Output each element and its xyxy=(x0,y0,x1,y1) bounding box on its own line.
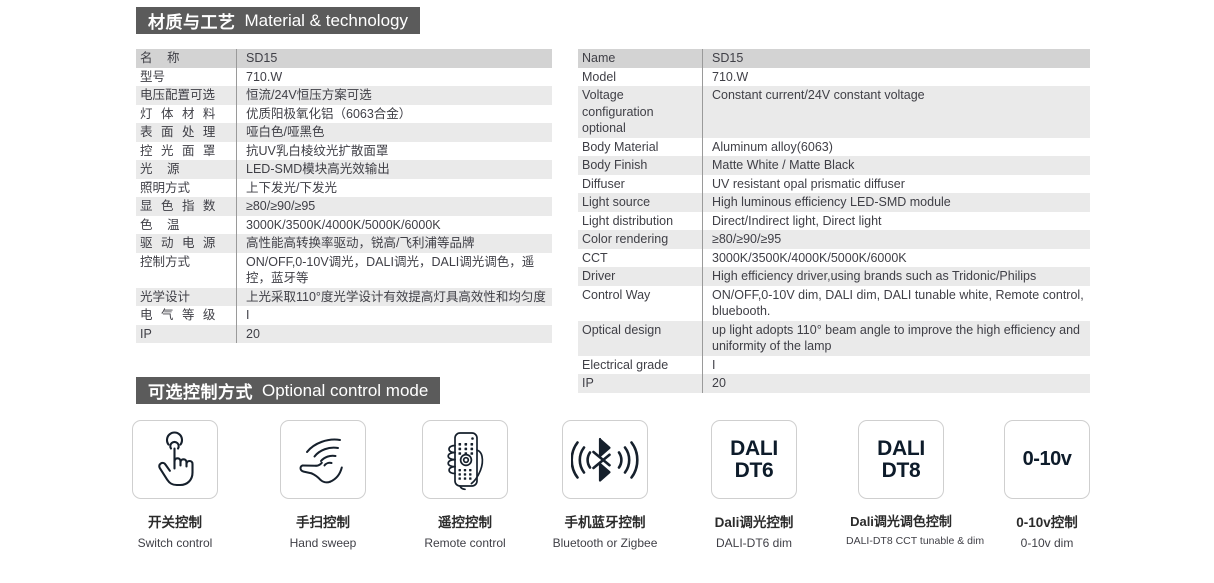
control-mode-label-cn: Dali调光调色控制 xyxy=(846,511,956,530)
table-row: Model 710.W xyxy=(578,68,1090,87)
spec-value: High luminous efficiency LED-SMD module xyxy=(702,193,1090,212)
dali-dt6-icon: DALI DT6 xyxy=(730,438,778,481)
spec-key: 表 面 处 理 xyxy=(136,123,236,142)
table-row: 控制方式 ON/OFF,0-10V调光，DALI调光，DALI调光调色，遥控，蓝… xyxy=(136,253,552,288)
dali-dt8-icon: DALI DT8 xyxy=(877,438,925,481)
control-mode-label-cn: Dali调光控制 xyxy=(699,511,809,531)
dali-dt8-line1: DALI xyxy=(877,437,925,460)
spec-value: Direct/Indirect light, Direct light xyxy=(702,212,1090,231)
spec-value: ≥80/≥90/≥95 xyxy=(702,230,1090,249)
dali-dt8-line2: DT8 xyxy=(877,460,925,481)
spec-key: IP xyxy=(136,325,236,344)
spec-value: 抗UV乳白棱纹光扩散面罩 xyxy=(236,142,552,161)
spec-value: up light adopts 110° beam angle to impro… xyxy=(702,321,1090,356)
spec-key: Name xyxy=(578,49,702,68)
control-mode-item-bluetooth[interactable]: 手机蓝牙控制 Bluetooth or Zigbee xyxy=(550,420,660,550)
spec-value: Constant current/24V constant voltage xyxy=(702,86,1090,138)
spec-key: Control Way xyxy=(578,286,702,321)
spec-value: 710.W xyxy=(702,68,1090,87)
section-header-control-mode: 可选控制方式 Optional control mode xyxy=(136,377,440,404)
table-row: Light source High luminous efficiency LE… xyxy=(578,193,1090,212)
control-mode-label-en: DALI-DT6 dim xyxy=(699,536,809,550)
spec-value: I xyxy=(236,306,552,325)
spec-key: 光 源 xyxy=(136,160,236,179)
table-row: 照明方式 上下发光/下发光 xyxy=(136,179,552,198)
table-row: 控 光 面 罩 抗UV乳白棱纹光扩散面罩 xyxy=(136,142,552,161)
spec-value: 3000K/3500K/4000K/5000K/6000K xyxy=(236,216,552,235)
hand-sweep-wave-icon xyxy=(294,432,352,488)
touch-hand-icon-box[interactable] xyxy=(132,420,218,499)
spec-value: 优质阳极氧化铝（6063合金） xyxy=(236,105,552,124)
spec-key: Driver xyxy=(578,267,702,286)
control-mode-label-en: Bluetooth or Zigbee xyxy=(550,536,660,550)
table-row: 光学设计 上光采取110°度光学设计有效提高灯具高效性和均匀度 xyxy=(136,288,552,307)
spec-value: 20 xyxy=(236,325,552,344)
section-header-control-en: Optional control mode xyxy=(262,381,428,401)
spec-value: 20 xyxy=(702,374,1090,393)
table-row: 色 温 3000K/3500K/4000K/5000K/6000K xyxy=(136,216,552,235)
spec-value: 3000K/3500K/4000K/5000K/6000K xyxy=(702,249,1090,268)
spec-value: ≥80/≥90/≥95 xyxy=(236,197,552,216)
spec-key: Electrical grade xyxy=(578,356,702,375)
spec-value: I xyxy=(702,356,1090,375)
table-row: Driver High efficiency driver,using bran… xyxy=(578,267,1090,286)
table-row: IP 20 xyxy=(578,374,1090,393)
control-mode-label-en: Switch control xyxy=(120,536,230,550)
spec-key: 控 光 面 罩 xyxy=(136,142,236,161)
spec-key: Light source xyxy=(578,193,702,212)
table-row: 驱 动 电 源 高性能高转换率驱动，锐高/飞利浦等品牌 xyxy=(136,234,552,253)
spec-value: 恒流/24V恒压方案可选 xyxy=(236,86,552,105)
spec-key: IP xyxy=(578,374,702,393)
control-mode-item-remote[interactable]: 遥控控制 Remote control xyxy=(410,420,520,550)
spec-value: Matte White / Matte Black xyxy=(702,156,1090,175)
spec-key: Optical design xyxy=(578,321,702,356)
control-mode-label-en: 0-10v dim xyxy=(992,536,1102,550)
spec-key: 电 气 等 级 xyxy=(136,306,236,325)
table-row: Name SD15 xyxy=(578,49,1090,68)
table-row: 灯 体 材 料 优质阳极氧化铝（6063合金） xyxy=(136,105,552,124)
control-mode-label-cn: 手扫控制 xyxy=(268,511,378,531)
control-mode-label-en: DALI-DT8 CCT tunable & dim xyxy=(846,535,956,547)
spec-key: CCT xyxy=(578,249,702,268)
table-row: Body Finish Matte White / Matte Black xyxy=(578,156,1090,175)
spec-value: ON/OFF,0-10V dim, DALI dim, DALI tunable… xyxy=(702,286,1090,321)
section-header-material: 材质与工艺 Material & technology xyxy=(136,7,420,34)
control-mode-list: 开关控制 Switch control 手扫控制 xyxy=(0,420,1214,580)
spec-value: LED-SMD模块高光效输出 xyxy=(236,160,552,179)
table-row: 电压配置可选 恒流/24V恒压方案可选 xyxy=(136,86,552,105)
spec-value: 710.W xyxy=(236,68,552,87)
control-mode-label-cn: 0-10v控制 xyxy=(992,511,1102,531)
zero-to-ten-volt-icon-box[interactable]: 0-10v xyxy=(1004,420,1090,499)
control-mode-item-switch[interactable]: 开关控制 Switch control xyxy=(120,420,230,550)
spec-value: 哑白色/哑黑色 xyxy=(236,123,552,142)
table-row: 光 源 LED-SMD模块高光效输出 xyxy=(136,160,552,179)
spec-value: 上光采取110°度光学设计有效提高灯具高效性和均匀度 xyxy=(236,288,552,307)
table-row: Electrical grade I xyxy=(578,356,1090,375)
spec-key: Model xyxy=(578,68,702,87)
spec-table-english: Name SD15 Model 710.W Voltage configurat… xyxy=(578,49,1090,393)
spec-key: 照明方式 xyxy=(136,179,236,198)
spec-key: 电压配置可选 xyxy=(136,86,236,105)
spec-value: High efficiency driver,using brands such… xyxy=(702,267,1090,286)
spec-key: 显 色 指 数 xyxy=(136,197,236,216)
zero-to-ten-volt-icon: 0-10v xyxy=(1023,448,1072,471)
table-row: Optical design up light adopts 110° beam… xyxy=(578,321,1090,356)
control-mode-label-cn: 手机蓝牙控制 xyxy=(550,511,660,531)
table-row: 名 称 SD15 xyxy=(136,49,552,68)
table-row: 显 色 指 数 ≥80/≥90/≥95 xyxy=(136,197,552,216)
spec-table-chinese: 名 称 SD15 型号 710.W 电压配置可选 恒流/24V恒压方案可选 灯 … xyxy=(136,49,552,343)
section-header-control-cn: 可选控制方式 xyxy=(148,378,253,403)
spec-key: 名 称 xyxy=(136,49,236,68)
spec-value: Aluminum alloy(6063) xyxy=(702,138,1090,157)
spec-value: UV resistant opal prismatic diffuser xyxy=(702,175,1090,194)
spec-key: 驱 动 电 源 xyxy=(136,234,236,253)
spec-key: 型号 xyxy=(136,68,236,87)
spec-key: Body Material xyxy=(578,138,702,157)
table-row: 型号 710.W xyxy=(136,68,552,87)
control-mode-label-cn: 开关控制 xyxy=(120,511,230,531)
table-row: 表 面 处 理 哑白色/哑黑色 xyxy=(136,123,552,142)
spec-key: Light distribution xyxy=(578,212,702,231)
table-row: Body Material Aluminum alloy(6063) xyxy=(578,138,1090,157)
spec-value: SD15 xyxy=(236,49,552,68)
spec-value: SD15 xyxy=(702,49,1090,68)
spec-key: 色 温 xyxy=(136,216,236,235)
control-mode-label-cn: 遥控控制 xyxy=(410,511,520,531)
control-mode-label-en: Remote control xyxy=(410,536,520,550)
spec-key: Voltage configuration optional xyxy=(578,86,702,138)
spec-value: 高性能高转换率驱动，锐高/飞利浦等品牌 xyxy=(236,234,552,253)
table-row: Voltage configuration optional Constant … xyxy=(578,86,1090,138)
spec-key: Body Finish xyxy=(578,156,702,175)
section-header-material-en: Material & technology xyxy=(245,11,408,31)
section-header-material-cn: 材质与工艺 xyxy=(148,8,236,33)
spec-key: 灯 体 材 料 xyxy=(136,105,236,124)
spec-key: Diffuser xyxy=(578,175,702,194)
spec-key: 光学设计 xyxy=(136,288,236,307)
table-row: Diffuser UV resistant opal prismatic dif… xyxy=(578,175,1090,194)
spec-value: ON/OFF,0-10V调光，DALI调光，DALI调光调色，遥控，蓝牙等 xyxy=(236,253,552,288)
dali-dt6-icon-box[interactable]: DALI DT6 xyxy=(711,420,797,499)
control-mode-item-dali-dt6[interactable]: DALI DT6 Dali调光控制 DALI-DT6 dim xyxy=(699,420,809,550)
spec-value: 上下发光/下发光 xyxy=(236,179,552,198)
table-row: Light distribution Direct/Indirect light… xyxy=(578,212,1090,231)
bluetooth-signal-icon-box[interactable] xyxy=(562,420,648,499)
table-row: IP 20 xyxy=(136,325,552,344)
table-row: CCT 3000K/3500K/4000K/5000K/6000K xyxy=(578,249,1090,268)
control-mode-item-hand-sweep[interactable]: 手扫控制 Hand sweep xyxy=(268,420,378,550)
spec-key: 控制方式 xyxy=(136,253,236,288)
dali-dt6-line1: DALI xyxy=(730,437,778,460)
hand-sweep-wave-icon-box[interactable] xyxy=(280,420,366,499)
dali-dt8-icon-box[interactable]: DALI DT8 xyxy=(858,420,944,499)
spec-key: Color rendering xyxy=(578,230,702,249)
product-spec-page: 材质与工艺 Material & technology 名 称 SD15 型号 … xyxy=(0,0,1214,583)
touch-hand-icon xyxy=(147,431,203,489)
table-row: Control Way ON/OFF,0-10V dim, DALI dim, … xyxy=(578,286,1090,321)
remote-control-icon-box[interactable] xyxy=(422,420,508,499)
bluetooth-signal-icon xyxy=(571,435,639,485)
remote-control-icon xyxy=(436,429,494,491)
control-mode-item-0-10v[interactable]: 0-10v 0-10v控制 0-10v dim xyxy=(992,420,1102,550)
control-mode-label-en: Hand sweep xyxy=(268,536,378,550)
control-mode-item-dali-dt8[interactable]: DALI DT8 Dali调光调色控制 DALI-DT8 CCT tunable… xyxy=(846,420,956,547)
table-row: Color rendering ≥80/≥90/≥95 xyxy=(578,230,1090,249)
table-row: 电 气 等 级 I xyxy=(136,306,552,325)
dali-dt6-line2: DT6 xyxy=(730,460,778,481)
